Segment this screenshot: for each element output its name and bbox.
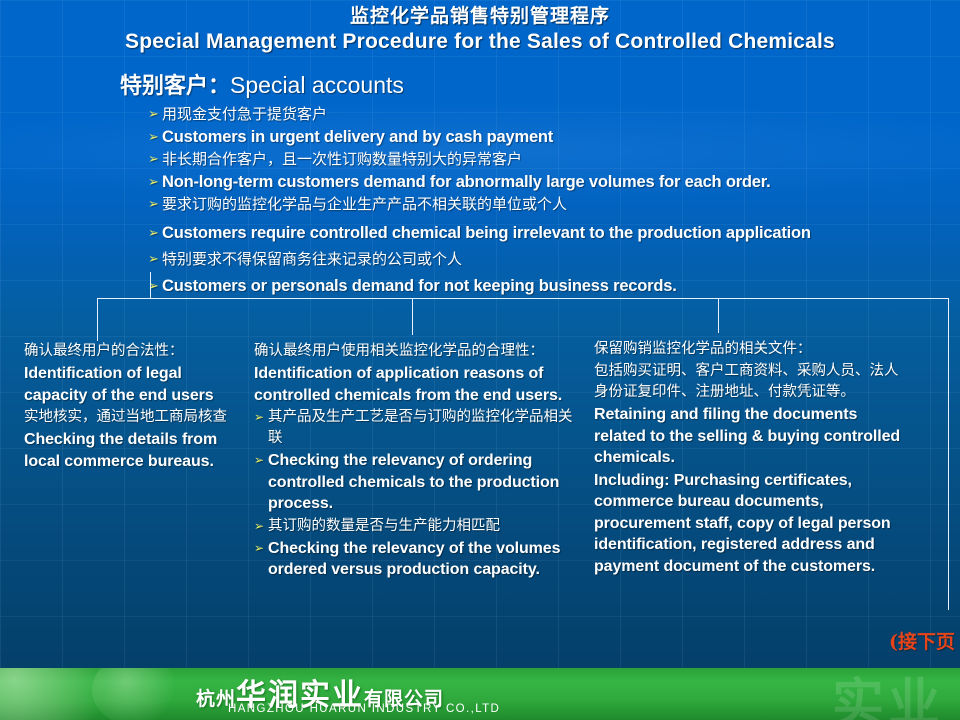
connector-horizontal <box>97 298 948 299</box>
arrow-bullet-icon: ➢ <box>254 450 264 472</box>
list-item-text: Customers require controlled chemical be… <box>162 224 811 242</box>
list-item: ➢Non-long-term customers demand for abno… <box>148 170 960 194</box>
connector-stub-up <box>150 272 151 299</box>
arrow-bullet-icon: ➢ <box>148 194 159 215</box>
list-item-text: Non-long-term customers demand for abnor… <box>162 173 770 191</box>
slide-title-english: Special Management Procedure for the Sal… <box>0 28 960 56</box>
list-item-text: 非长期合作客户，且一次性订购数量特别大的异常客户 <box>162 150 522 168</box>
list-item: ➢其产品及生产工艺是否与订购的监控化学品相关联 <box>254 407 584 449</box>
list-item-text: 特别要求不得保留商务往来记录的公司或个人 <box>162 250 462 268</box>
list-item: ➢用现金支付急于提货客户 <box>148 104 960 125</box>
footer-watermark-text: 实业 <box>832 668 944 720</box>
decorative-orb-small <box>92 668 178 720</box>
column-legal-capacity: 确认最终用户的合法性： Identification of legal capa… <box>24 341 242 473</box>
arrow-bullet-icon: ➢ <box>254 407 264 428</box>
column-application-reasons: 确认最终用户使用相关监控化学品的合理性： Identification of a… <box>254 341 584 582</box>
list-item: ➢Customers in urgent delivery and by cas… <box>148 125 960 149</box>
paragraph-chinese: 保留购销监控化学品的相关文件： <box>594 339 912 360</box>
paragraph-chinese: 确认最终用户使用相关监控化学品的合理性： <box>254 341 584 362</box>
list-item-text: Checking the relevancy of the volumes or… <box>268 540 560 579</box>
paragraph-chinese: 确认最终用户的合法性： <box>24 341 242 362</box>
arrow-bullet-icon: ➢ <box>254 516 264 537</box>
connector-branch-3 <box>718 298 719 333</box>
paragraph-chinese: 包括购买证明、客户工商资料、采购人员、法人身份证复印件、注册地址、付款凭证等。 <box>594 361 912 403</box>
column-document-retention: 保留购销监控化学品的相关文件： 包括购买证明、客户工商资料、采购人员、法人身份证… <box>594 339 912 578</box>
list-item: ➢Customers require controlled chemical b… <box>148 221 960 245</box>
arrow-bullet-icon: ➢ <box>148 104 159 125</box>
list-item: ➢Checking the relevancy of the volumes o… <box>254 538 584 581</box>
paragraph-english: Including: Purchasing certificates, comm… <box>594 470 912 578</box>
list-item-text: Checking the relevancy of ordering contr… <box>268 452 559 512</box>
arrow-bullet-icon: ➢ <box>148 221 159 245</box>
section-heading-english: Special accounts <box>230 72 404 98</box>
list-item: ➢Customers or personals demand for not k… <box>148 274 960 298</box>
slide-title-block: 监控化学品销售特别管理程序 Special Management Procedu… <box>0 4 960 56</box>
list-item: ➢特别要求不得保留商务往来记录的公司或个人 <box>148 249 960 270</box>
arrow-bullet-icon: ➢ <box>254 538 264 560</box>
paragraph-english: Retaining and filing the documents relat… <box>594 404 912 469</box>
company-name-english: HANGZHOU HUARUN INDUSTRY CO.,LTD <box>228 703 500 715</box>
section-heading: 特别客户：Special accounts <box>120 70 404 101</box>
list-item: ➢其订购的数量是否与生产能力相匹配 <box>254 516 584 537</box>
section-heading-chinese: 特别客户： <box>120 73 230 99</box>
list-item-text: 其产品及生产工艺是否与订购的监控化学品相关联 <box>268 409 573 446</box>
slide-canvas: 监控化学品销售特别管理程序 Special Management Procedu… <box>0 0 960 720</box>
list-item: ➢Checking the relevancy of ordering cont… <box>254 450 584 515</box>
paragraph-english: Checking the details from local commerce… <box>24 429 242 472</box>
list-item-text: 用现金支付急于提货客户 <box>162 105 327 123</box>
arrow-bullet-icon: ➢ <box>148 125 159 149</box>
company-footer-banner: 实业 杭州华润实业有限公司 HANGZHOU HUARUN INDUSTRY C… <box>0 668 960 720</box>
list-item: ➢要求订购的监控化学品与企业生产产品不相关联的单位或个人 <box>148 194 960 215</box>
continuation-marker: (接下页 <box>889 627 955 654</box>
paragraph-english: Identification of application reasons of… <box>254 363 584 406</box>
connector-branch-2 <box>412 298 413 335</box>
arrow-bullet-icon: ➢ <box>148 249 159 270</box>
connector-branch-right-edge <box>948 298 949 610</box>
list-item-text: Customers in urgent delivery and by cash… <box>162 128 553 146</box>
connector-branch-1 <box>97 298 98 341</box>
paragraph-english: Identification of legal capacity of the … <box>24 363 242 406</box>
list-item-text: Customers or personals demand for not ke… <box>162 277 677 295</box>
arrow-bullet-icon: ➢ <box>148 170 159 194</box>
list-item: ➢非长期合作客户，且一次性订购数量特别大的异常客户 <box>148 149 960 170</box>
list-item-text: 其订购的数量是否与生产能力相匹配 <box>268 518 500 534</box>
special-accounts-bullet-list: ➢用现金支付急于提货客户 ➢Customers in urgent delive… <box>148 104 960 298</box>
arrow-bullet-icon: ➢ <box>148 149 159 170</box>
slide-title-chinese: 监控化学品销售特别管理程序 <box>0 4 960 28</box>
paragraph-chinese: 实地核实，通过当地工商局核查 <box>24 407 242 428</box>
list-item-text: 要求订购的监控化学品与企业生产产品不相关联的单位或个人 <box>162 195 567 213</box>
